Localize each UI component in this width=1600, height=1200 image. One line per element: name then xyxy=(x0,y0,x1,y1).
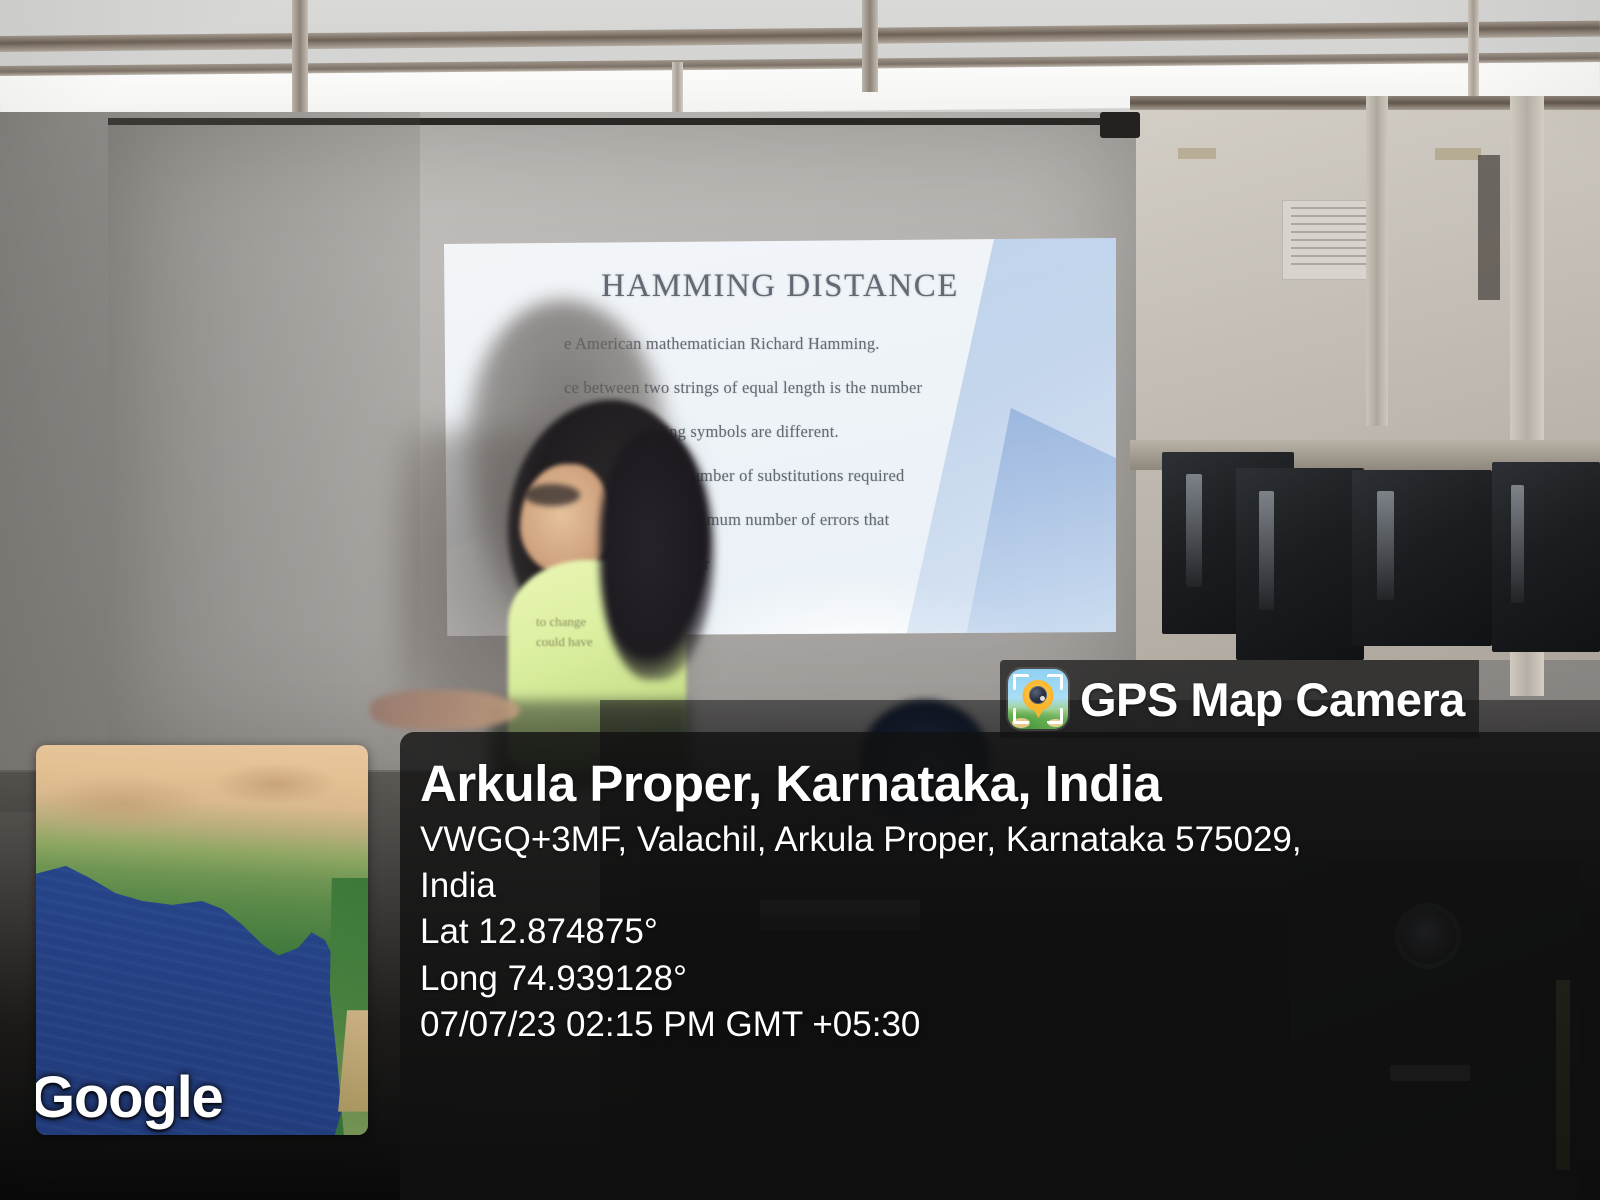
wall-tape-right xyxy=(1435,148,1481,160)
monitor-4 xyxy=(1492,462,1600,652)
location-title: Arkula Proper, Karnataka, India xyxy=(420,756,1584,811)
wall-notice-poster xyxy=(1282,200,1379,280)
presenter-hair-front xyxy=(600,430,715,680)
presenter-eye-region xyxy=(524,484,580,506)
left-wall-shading xyxy=(0,112,420,812)
gps-map-camera-label: GPS Map Camera xyxy=(1080,676,1465,723)
logo-corner-bottom-left-icon xyxy=(1013,708,1029,724)
logo-corner-top-left-icon xyxy=(1013,674,1029,690)
location-info-panel: Arkula Proper, Karnataka, India VWGQ+3MF… xyxy=(400,732,1600,1200)
location-timestamp: 07/07/23 02:15 PM GMT +05:30 xyxy=(420,1002,1584,1048)
wall-tape-left xyxy=(1178,148,1216,159)
presenter-arm xyxy=(370,690,520,730)
whiteboard-corner-bracket xyxy=(1100,112,1140,138)
location-address-line-1: VWGQ+3MF, Valachil, Arkula Proper, Karna… xyxy=(420,817,1580,863)
wall-pillar-inner xyxy=(1366,96,1388,426)
location-longitude: Long 74.939128° xyxy=(420,956,1584,1002)
monitor-3 xyxy=(1352,470,1492,646)
slide-line-1: e American mathematician Richard Hamming… xyxy=(564,334,1102,354)
logo-corner-top-right-icon xyxy=(1047,674,1063,690)
wall-dark-strip xyxy=(1478,155,1500,300)
satellite-map-thumbnail[interactable]: Google xyxy=(36,745,368,1135)
window-mullion-3 xyxy=(862,0,878,92)
monitor-2 xyxy=(1236,468,1364,660)
logo-corner-bottom-right-icon xyxy=(1047,708,1063,724)
logo-camera-lens-icon xyxy=(1029,686,1047,704)
google-watermark: Google xyxy=(36,1069,223,1127)
window-mullion-1 xyxy=(292,0,308,125)
gps-map-camera-watermark: GPS Map Camera xyxy=(1000,660,1479,738)
location-address-line-2: India xyxy=(420,863,1580,909)
screenshot-root: HAMMING DISTANCE e American mathematicia… xyxy=(0,0,1600,1200)
slide-title: HAMMING DISTANCE xyxy=(444,268,1116,305)
gps-map-camera-logo-icon xyxy=(1008,669,1068,729)
location-latitude: Lat 12.874875° xyxy=(420,909,1584,955)
